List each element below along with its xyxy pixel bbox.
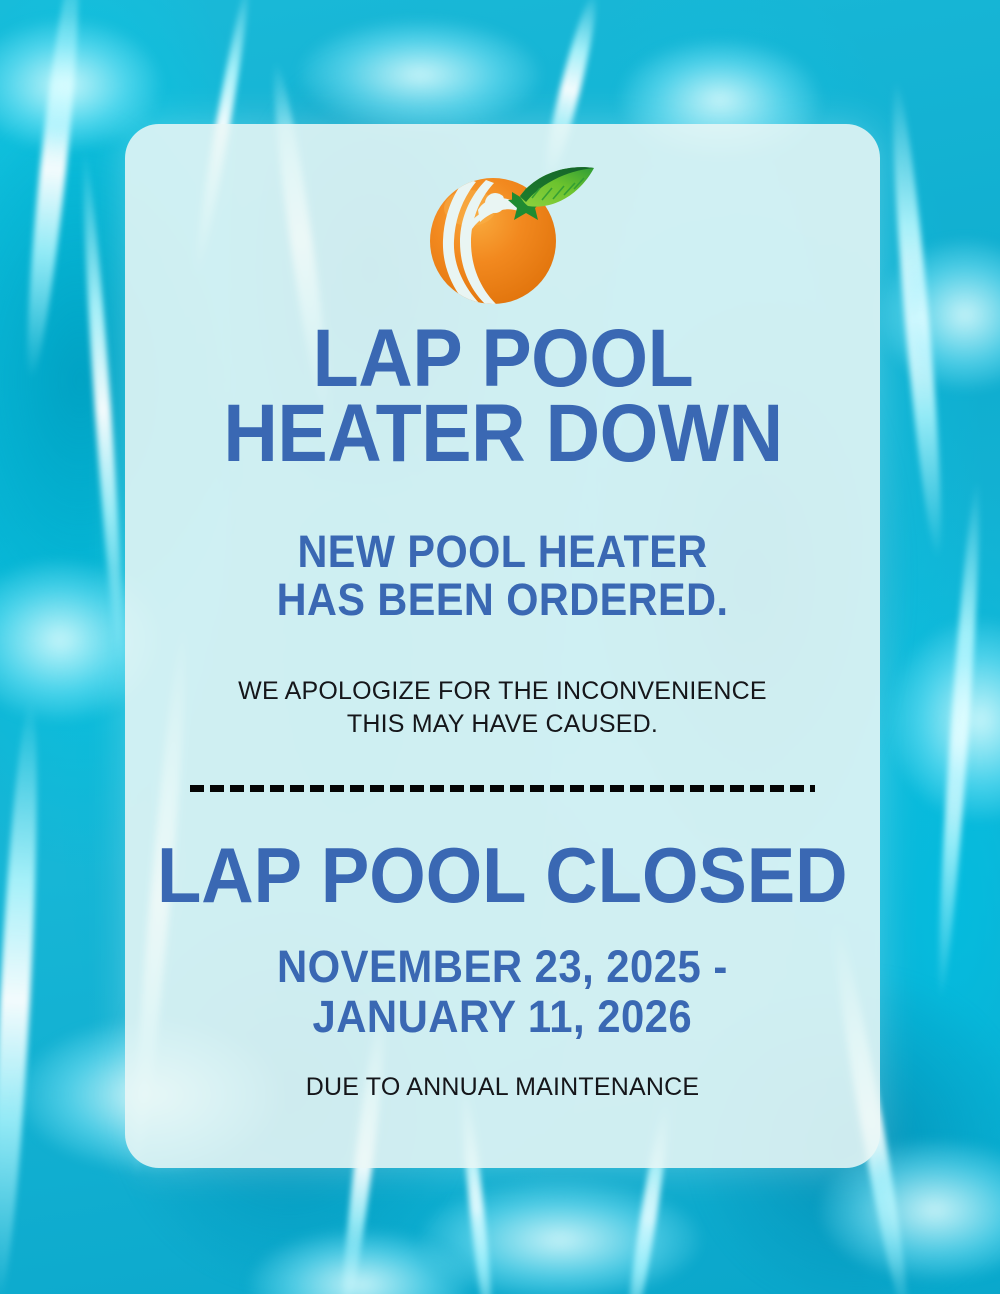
subhead-line-2: HAS BEEN ORDERED. (277, 576, 729, 625)
date-line-1: NOVEMBER 23, 2025 - (277, 942, 728, 992)
headline-line-2: HEATER DOWN (223, 396, 782, 471)
orange-with-swimmer-logo (408, 158, 598, 313)
apology-text: WE APOLOGIZE FOR THE INCONVENIENCE THIS … (238, 675, 767, 741)
page-title: LAP POOL HEATER DOWN (223, 321, 782, 472)
dashed-divider (190, 785, 815, 792)
date-line-2: JANUARY 11, 2026 (277, 992, 728, 1042)
subhead-line-1: NEW POOL HEATER (277, 528, 729, 577)
closure-headline: LAP POOL CLOSED (157, 836, 848, 914)
leaf (520, 167, 594, 206)
poster-canvas: LAP POOL HEATER DOWN NEW POOL HEATER HAS… (0, 0, 1000, 1294)
apology-line-2: THIS MAY HAVE CAUSED. (238, 708, 767, 741)
apology-line-1: WE APOLOGIZE FOR THE INCONVENIENCE (238, 675, 767, 708)
notice-card: LAP POOL HEATER DOWN NEW POOL HEATER HAS… (125, 124, 880, 1168)
closure-date-range: NOVEMBER 23, 2025 - JANUARY 11, 2026 (277, 942, 728, 1041)
headline-line-1: LAP POOL (223, 321, 782, 396)
reason-footnote: DUE TO ANNUAL MAINTENANCE (306, 1073, 700, 1102)
subheading: NEW POOL HEATER HAS BEEN ORDERED. (277, 528, 729, 625)
